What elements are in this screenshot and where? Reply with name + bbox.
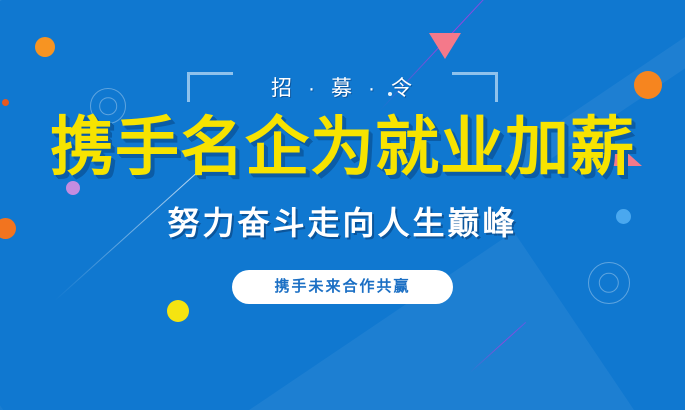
eyebrow-text: 招·募·令 [267, 72, 418, 102]
eyebrow-separator-1: · [298, 77, 327, 101]
bracket-right-icon [452, 72, 498, 102]
eyebrow-row: 招·募·令 [0, 64, 685, 110]
eyebrow-separator-2: · [358, 77, 387, 101]
diagonal-band-bottom-right [132, 232, 685, 410]
page-subtitle: 努力奋斗走向人生巅峰 [0, 207, 685, 239]
pink-triangle-down-icon [429, 33, 461, 59]
page-title: 携手名企为就业加薪 [0, 115, 685, 179]
eyebrow-char-3: 令 [387, 72, 418, 102]
eyebrow-char-1: 招 [267, 72, 298, 102]
eyebrow-char-2: 募 [327, 72, 358, 102]
diagonal-band-bottom-left [0, 210, 59, 410]
bracket-left-icon [187, 72, 233, 102]
diagonal-band-top-left [0, 0, 280, 58]
recruitment-banner: 招·募·令 携手名企为就业加薪 努力奋斗走向人生巅峰 携手未来合作共赢 [0, 0, 685, 410]
diagonal-band-top-right [506, 0, 685, 40]
cta-button[interactable]: 携手未来合作共赢 [232, 270, 452, 304]
purple-circle-left [66, 181, 80, 195]
cta-row: 携手未来合作共赢 [0, 270, 685, 304]
orange-circle-top-left [35, 37, 55, 57]
